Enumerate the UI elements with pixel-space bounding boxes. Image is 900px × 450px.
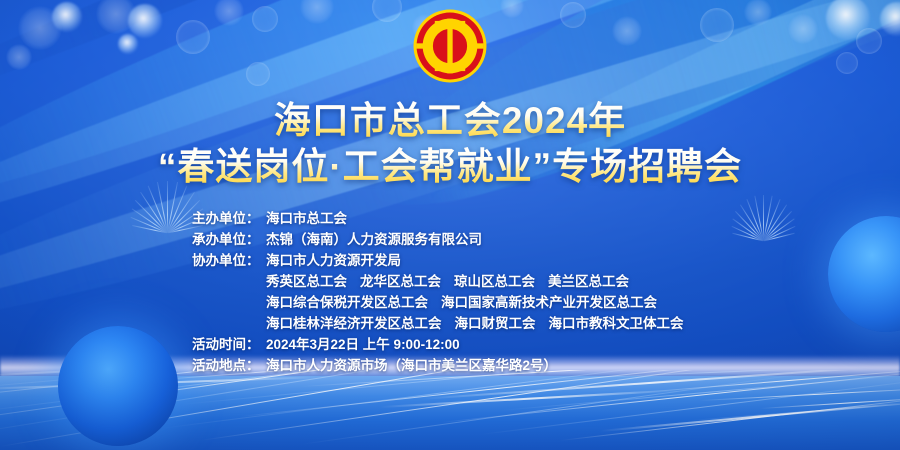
organizer-value: 海口市总工会 [266, 211, 347, 226]
event-info-block: 主办单位：海口市总工会 承办单位：杰锦（海南）人力资源服务有限公司 协办单位：海… [192, 208, 832, 376]
organizer-label: 主办单位： [192, 208, 266, 229]
info-row-undertaker: 承办单位：杰锦（海南）人力资源服务有限公司 [192, 229, 832, 250]
coorganizer-value-line-2: 秀英区总工会龙华区总工会琼山区总工会美兰区总工会 [266, 274, 629, 289]
info-row-coorganizer: 协办单位：海口市人力资源开发局 [192, 250, 832, 271]
coorganizer-value: 海口市人力资源开发局 [266, 253, 401, 268]
coorganizer-value-line-3: 海口综合保税开发区总工会海口国家高新技术产业开发区总工会 [266, 295, 657, 310]
info-row-coorganizer-4: 海口桂林洋经济开发区总工会海口财贸工会海口市教科文卫体工会 [192, 313, 832, 334]
recruitment-poster: 海口市总工会2024年 “春送岗位·工会帮就业”专场招聘会 主办单位：海口市总工… [0, 0, 900, 450]
event-place-label: 活动地点： [192, 355, 266, 376]
info-row-time: 活动时间：2024年3月22日 上午 9:00-12:00 [192, 334, 832, 355]
info-row-place: 活动地点：海口市人力资源市场（海口市美兰区嘉华路2号） [192, 355, 832, 376]
info-row-organizer: 主办单位：海口市总工会 [192, 208, 832, 229]
event-time-label: 活动时间： [192, 334, 266, 355]
poster-title-line-1: 海口市总工会2024年 [0, 100, 900, 143]
undertaker-label: 承办单位： [192, 229, 266, 250]
event-time-value: 2024年3月22日 上午 9:00-12:00 [266, 337, 460, 352]
poster-title-line-2: “春送岗位·工会帮就业”专场招聘会 [0, 146, 900, 189]
undertaker-value: 杰锦（海南）人力资源服务有限公司 [266, 232, 482, 247]
poster-title-block: 海口市总工会2024年 “春送岗位·工会帮就业”专场招聘会 [0, 100, 900, 189]
info-row-coorganizer-2: 秀英区总工会龙华区总工会琼山区总工会美兰区总工会 [192, 271, 832, 292]
coorganizer-value-line-4: 海口桂林洋经济开发区总工会海口财贸工会海口市教科文卫体工会 [266, 316, 684, 331]
coorganizer-label: 协办单位： [192, 250, 266, 271]
event-place-value: 海口市人力资源市场（海口市美兰区嘉华路2号） [266, 358, 557, 373]
acftu-union-emblem [412, 8, 488, 84]
info-row-coorganizer-3: 海口综合保税开发区总工会海口国家高新技术产业开发区总工会 [192, 292, 832, 313]
